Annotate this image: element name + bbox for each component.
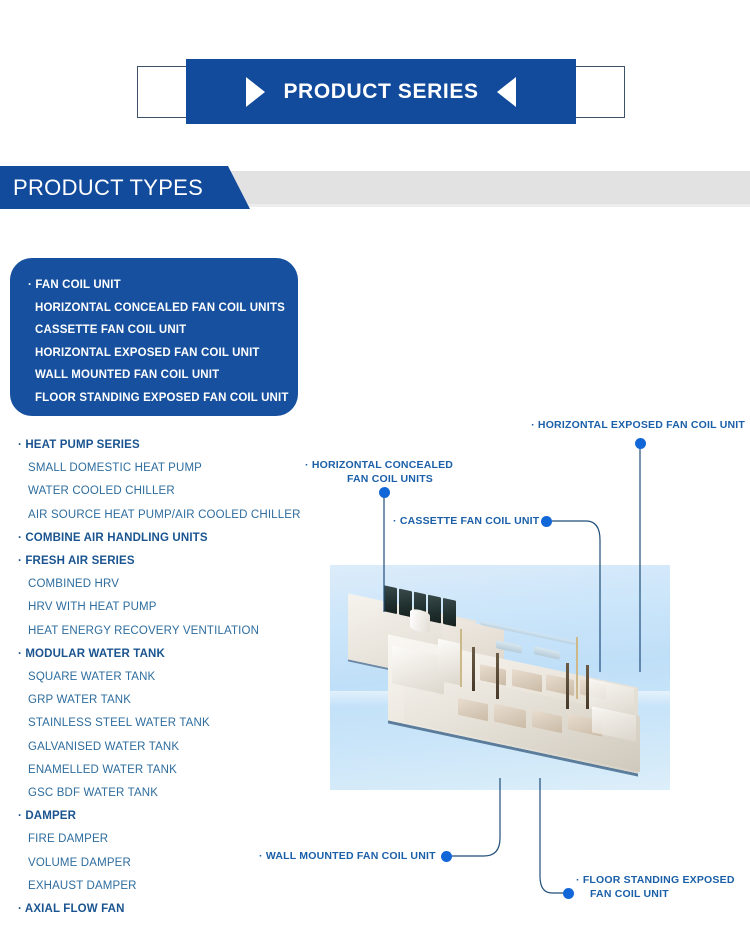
product-list-item[interactable]: HRV WITH HEAT PUMP — [18, 596, 318, 619]
chiller-unit — [384, 585, 397, 614]
fcu-card-item[interactable]: CASSETTE FAN COIL UNIT — [28, 319, 298, 342]
fcu-card-item[interactable]: HORIZONTAL CONCEALED FAN COIL UNITS — [28, 297, 298, 320]
fan-coil-unit-card: · FAN COIL UNITHORIZONTAL CONCEALED FAN … — [10, 258, 298, 416]
product-list-item[interactable]: SMALL DOMESTIC HEAT PUMP — [18, 457, 318, 480]
product-list-heading[interactable]: · AXIAL FLOW FAN — [18, 898, 318, 921]
product-list-item[interactable]: AIR SOURCE HEAT PUMP/AIR COOLED CHILLER — [18, 504, 318, 527]
product-list-heading[interactable]: · HEAT PUMP SERIES — [18, 434, 318, 457]
product-list-heading[interactable]: · MODULAR WATER TANK — [18, 643, 318, 666]
callout-dot-cassette — [541, 516, 552, 527]
callout-line-1: · HORIZONTAL CONCEALED — [305, 458, 475, 472]
product-list-item[interactable]: SQUARE WATER TANK — [18, 666, 318, 689]
illustration-wall — [438, 639, 460, 686]
product-list-item[interactable]: WATER COOLED CHILLER — [18, 480, 318, 503]
callout-dot-floor-standing — [563, 888, 574, 899]
callout-line-2: FAN COIL UNIT — [576, 887, 746, 901]
page-title: PRODUCT SERIES — [283, 80, 478, 104]
illustration-column — [566, 663, 569, 709]
product-list-heading[interactable]: · FRESH AIR SERIES — [18, 550, 318, 573]
product-list-item[interactable]: HEAT ENERGY RECOVERY VENTILATION — [18, 620, 318, 643]
callout-cassette: · CASSETTE FAN COIL UNIT — [393, 514, 548, 528]
callout-dot-horizontal-concealed — [379, 487, 390, 498]
callout-line-1: · WALL MOUNTED FAN COIL UNIT — [259, 849, 444, 863]
fcu-card-item[interactable]: FLOOR STANDING EXPOSED FAN COIL UNIT — [28, 387, 298, 410]
callout-horizontal-exposed: · HORIZONTAL EXPOSED FAN COIL UNIT — [380, 418, 745, 432]
fcu-card-heading[interactable]: · FAN COIL UNIT — [28, 274, 298, 297]
illustration-duct — [534, 646, 560, 660]
illustration-pipe — [576, 637, 578, 699]
callout-floor-standing: · FLOOR STANDING EXPOSED FAN COIL UNIT — [576, 873, 746, 901]
product-list-item[interactable]: GRP WATER TANK — [18, 689, 318, 712]
illustration-pipe — [460, 629, 462, 687]
callout-dot-horizontal-exposed — [635, 438, 646, 449]
callout-line-1: · CASSETTE FAN COIL UNIT — [393, 514, 548, 528]
triangle-left-icon — [497, 77, 516, 107]
chiller-unit — [443, 598, 456, 627]
callout-line-2: FAN COIL UNITS — [305, 472, 475, 486]
callout-wall-mounted: · WALL MOUNTED FAN COIL UNIT — [259, 849, 444, 863]
callout-line-1: · HORIZONTAL EXPOSED FAN COIL UNIT — [380, 418, 745, 432]
product-list-item[interactable]: COMBINED HRV — [18, 573, 318, 596]
illustration-column — [472, 647, 475, 691]
product-list-heading[interactable]: · DAMPER — [18, 805, 318, 828]
header-banner: PRODUCT SERIES — [0, 0, 750, 150]
fcu-card-item[interactable]: HORIZONTAL EXPOSED FAN COIL UNIT — [28, 342, 298, 365]
section-title: PRODUCT TYPES — [0, 175, 203, 201]
callout-line-1: · FLOOR STANDING EXPOSED — [576, 873, 746, 887]
product-types-ribbon: PRODUCT TYPES — [0, 166, 750, 212]
product-list-item[interactable]: GSC BDF WATER TANK — [18, 782, 318, 805]
building-hvac-illustration — [330, 565, 670, 790]
product-list-heading[interactable]: · COMBINE AIR HANDLING UNITS — [18, 527, 318, 550]
product-list-item[interactable]: GALVANISED WATER TANK — [18, 736, 318, 759]
illustration-column — [586, 665, 589, 709]
callout-dot-wall-mounted — [441, 851, 452, 862]
product-list-item[interactable]: STAINLESS STEEL WATER TANK — [18, 712, 318, 735]
fcu-card-item[interactable]: WALL MOUNTED FAN COIL UNIT — [28, 364, 298, 387]
triangle-right-icon — [246, 77, 265, 107]
product-list-item[interactable]: EXHAUST DAMPER — [18, 875, 318, 898]
chiller-unit — [428, 595, 441, 624]
product-list-item[interactable]: ENAMELLED WATER TANK — [18, 759, 318, 782]
illustration-column — [496, 653, 499, 699]
header-bar: PRODUCT SERIES — [186, 59, 576, 124]
ribbon-blue-tag: PRODUCT TYPES — [0, 166, 250, 209]
callout-horizontal-concealed: · HORIZONTAL CONCEALED FAN COIL UNITS — [305, 458, 475, 486]
